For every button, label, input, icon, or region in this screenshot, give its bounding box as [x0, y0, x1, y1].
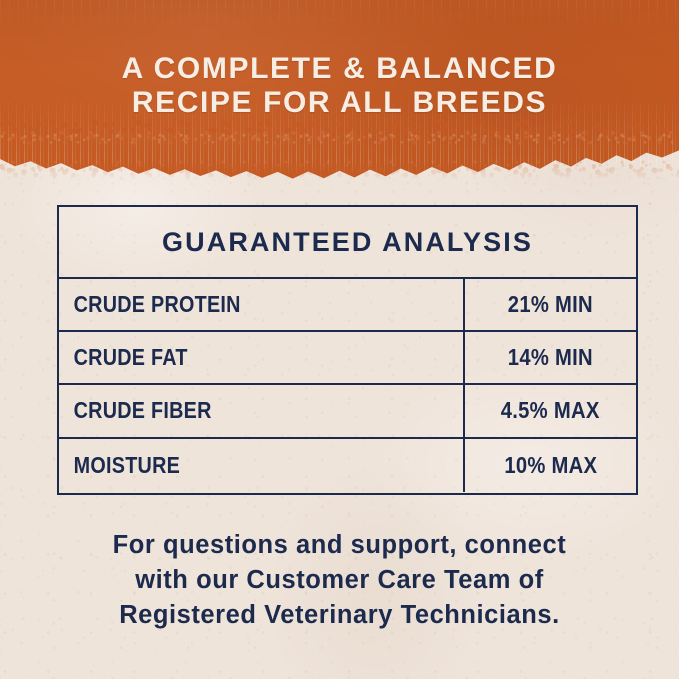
nutrient-label: CRUDE FAT: [59, 332, 406, 383]
table-row: CRUDE FIBER 4.5% MAX: [59, 385, 636, 438]
nutrient-amount: 10% MAX: [463, 439, 636, 492]
product-info-panel: A COMPLETE & BALANCED RECIPE FOR ALL BRE…: [0, 0, 679, 679]
guaranteed-analysis-header: GUARANTEED ANALYSIS: [59, 207, 636, 279]
guaranteed-analysis-title: GUARANTEED ANALYSIS: [162, 227, 533, 258]
customer-support-message: For questions and support, connect with …: [0, 528, 679, 633]
guaranteed-analysis-table: GUARANTEED ANALYSIS CRUDE PROTEIN 21% MI…: [57, 205, 638, 495]
nutrient-label: CRUDE PROTEIN: [59, 279, 406, 330]
table-row: MOISTURE 10% MAX: [59, 439, 636, 492]
nutrient-label: CRUDE FIBER: [59, 385, 406, 436]
nutrient-amount-text: 14% MIN: [508, 344, 593, 371]
nutrient-amount-text: 4.5% MAX: [501, 397, 600, 424]
table-row: CRUDE PROTEIN 21% MIN: [59, 279, 636, 332]
banner-headline: A COMPLETE & BALANCED RECIPE FOR ALL BRE…: [0, 52, 679, 120]
nutrient-amount-text: 10% MAX: [504, 452, 597, 479]
table-row: CRUDE FAT 14% MIN: [59, 332, 636, 385]
orange-banner: A COMPLETE & BALANCED RECIPE FOR ALL BRE…: [0, 0, 679, 188]
banner-headline-line-1: A COMPLETE & BALANCED: [0, 52, 679, 86]
banner-headline-line-2: RECIPE FOR ALL BREEDS: [0, 86, 679, 120]
nutrient-label: MOISTURE: [59, 439, 406, 492]
nutrient-amount: 21% MIN: [463, 279, 636, 330]
support-message-line-1: For questions and support, connect: [0, 528, 679, 563]
nutrient-amount: 14% MIN: [463, 332, 636, 383]
nutrient-amount: 4.5% MAX: [463, 385, 636, 436]
support-message-line-3: Registered Veterinary Technicians.: [0, 598, 679, 633]
support-message-line-2: with our Customer Care Team of: [0, 563, 679, 598]
nutrient-amount-text: 21% MIN: [508, 291, 593, 318]
